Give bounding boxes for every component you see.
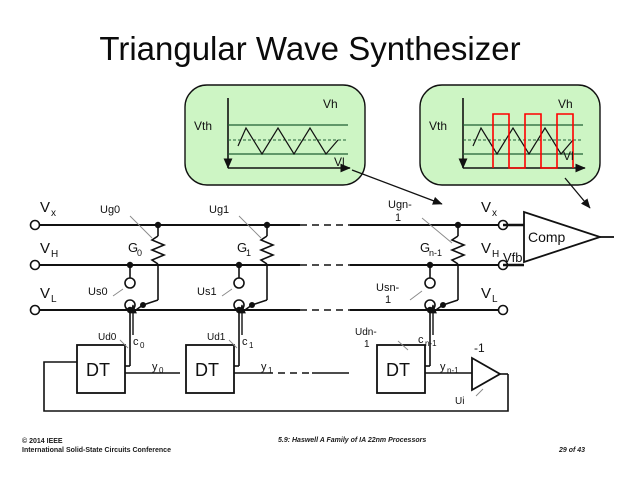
stage-n-1-gate-label-line2: 1 (395, 212, 401, 224)
dt-block-n-1[interactable]: DT Udn- 1 c n-1 y n-1 (355, 327, 472, 393)
rail-label-vl-left-main: V (40, 285, 50, 302)
dt-block-0-label: DT (86, 360, 110, 380)
callout-left-vth-label: Vth (194, 119, 212, 133)
leader-ug0 (130, 216, 152, 238)
stage-0-conductance-label: G 0 (128, 240, 142, 258)
rail-label-vh-right-sub: H (492, 249, 499, 260)
circuit-diagram: Vth Vh Vl Vth Vh Vl (0, 0, 620, 479)
footer-copyright: © 2014 IEEE International Solid-State Ci… (22, 437, 171, 456)
resistor-g0 (152, 236, 164, 264)
dt-block-0-clock-sub: 0 (140, 341, 145, 350)
rail-label-vh-right: V H (481, 240, 499, 260)
dt-block-0[interactable]: DT Ud0 c 0 y 0 (77, 332, 180, 393)
callout-left-panel (185, 85, 365, 185)
dt-block-0-out-main: y (152, 361, 158, 373)
dt-block-n-1-delay-label-line1: Udn- (355, 327, 377, 338)
rail-label-vl-right: V L (481, 285, 498, 305)
comparator[interactable]: Comp Vfb (503, 212, 614, 265)
switch-contact-vh-0[interactable] (125, 278, 135, 288)
terminal-vl-left[interactable] (31, 306, 40, 315)
callout-left-vh-label: Vh (323, 97, 338, 111)
rail-label-vx-left-sub: x (51, 208, 56, 219)
stage-n-1-conductance-sub: n-1 (429, 248, 442, 258)
leader-us1 (222, 289, 232, 296)
dt-block-n-1-label: DT (386, 360, 410, 380)
dt-block-1-delay-label: Ud1 (207, 332, 226, 343)
dt-block-n-1-clock-label: c n-1 (418, 334, 437, 348)
rail-label-vx-right-main: V (481, 199, 491, 216)
rail-label-vx-left: V x (40, 199, 56, 219)
dt-block-n-1-clock-sub: n-1 (425, 339, 437, 348)
rail-label-vh-left-main: V (40, 240, 50, 257)
terminal-vl-right[interactable] (499, 306, 508, 315)
callout-left-vl-label: Vl (334, 155, 345, 169)
leader-ui (476, 389, 483, 396)
stage-n-1-conductance-label: G n-1 (420, 240, 442, 258)
stage-n-1-switch-label-line2: 1 (385, 294, 391, 306)
callout-right-vl-label: Vl (563, 149, 574, 163)
callout-right-waveform: Vth Vh Vl (420, 85, 600, 185)
rail-label-vh-left-sub: H (51, 249, 58, 260)
dt-block-1-clock-main: c (242, 336, 248, 348)
leader-us0 (113, 289, 123, 296)
stage-0-gate-label: Ug0 (100, 204, 120, 216)
callout-right-vh-label: Vh (558, 97, 573, 111)
stage-1-conductance-label: G 1 (237, 240, 251, 258)
resistor-g1 (261, 236, 273, 264)
dt-block-1-clock-label: c 1 (242, 336, 254, 350)
footer-copyright-line2: International Solid-State Circuits Confe… (22, 446, 171, 455)
rail-label-vl-left: V L (40, 285, 57, 305)
dt-block-n-1-out-label: y n-1 (440, 361, 459, 375)
dt-block-1-out-main: y (261, 361, 267, 373)
rail-label-vl-right-main: V (481, 285, 491, 302)
footer-copyright-line1: © 2014 IEEE (22, 437, 171, 446)
stage-1-gate-label: Ug1 (209, 204, 229, 216)
leader-ug1 (239, 216, 261, 238)
switch-contact-vh-n1[interactable] (425, 278, 435, 288)
comparator-label: Comp (528, 229, 566, 245)
dt-block-n-1-out-main: y (440, 361, 446, 373)
stage-n-1-switch-label-line1: Usn- (376, 282, 400, 294)
rail-label-vh-right-main: V (481, 240, 491, 257)
stage-1-switch-label: Us1 (197, 286, 217, 298)
dt-block-n-1-delay-label-line2: 1 (364, 339, 370, 350)
rail-label-vx-right: V x (481, 199, 497, 219)
switch-contact-vh-1[interactable] (234, 278, 244, 288)
rail-label-vx-left-main: V (40, 199, 50, 216)
inverter-body[interactable] (472, 358, 500, 390)
stage-1-conductance-sub: 1 (246, 248, 251, 258)
dt-block-n-1-out-sub: n-1 (447, 366, 459, 375)
dt-block-1[interactable]: DT Ud1 c 1 y 1 (186, 332, 349, 393)
stage-n-1-gate-label-line1: Ugn- (388, 199, 412, 211)
rail-label-vl-left-sub: L (51, 294, 57, 305)
dt-block-1-clock-sub: 1 (249, 341, 254, 350)
callout-left-waveform: Vth Vh Vl (185, 85, 365, 185)
resistor-gn1 (452, 236, 464, 264)
stage-0-conductance-sub: 0 (137, 248, 142, 258)
terminal-vh-left[interactable] (31, 261, 40, 270)
rail-label-vx-right-sub: x (492, 208, 497, 219)
footer-page-number: 29 of 43 (559, 446, 585, 455)
dt-block-n-1-clock-main: c (418, 334, 424, 346)
rail-label-vh-left: V H (40, 240, 58, 260)
dt-block-0-clock-label: c 0 (133, 336, 145, 350)
dt-block-1-label: DT (195, 360, 219, 380)
dt-block-1-out-sub: 1 (268, 366, 273, 375)
callout-right-vth-label: Vth (429, 119, 447, 133)
rail-label-vl-right-sub: L (492, 294, 498, 305)
inverter-gain-label: -1 (474, 341, 485, 355)
footer-session-title: 5.9: Haswell A Family of IA 22nm Process… (278, 436, 426, 445)
inverter-name-label: Ui (455, 396, 464, 407)
comparator-feedback-label: Vfb (503, 250, 523, 265)
dt-block-0-out-sub: 0 (159, 366, 164, 375)
leader-usn1 (410, 291, 422, 300)
stage-0-switch-label: Us0 (88, 286, 108, 298)
terminal-vx-left[interactable] (31, 221, 40, 230)
slide-canvas: Triangular Wave Synthesizer Vth V (0, 0, 620, 479)
dt-block-0-delay-label: Ud0 (98, 332, 117, 343)
dt-block-0-clock-main: c (133, 336, 139, 348)
